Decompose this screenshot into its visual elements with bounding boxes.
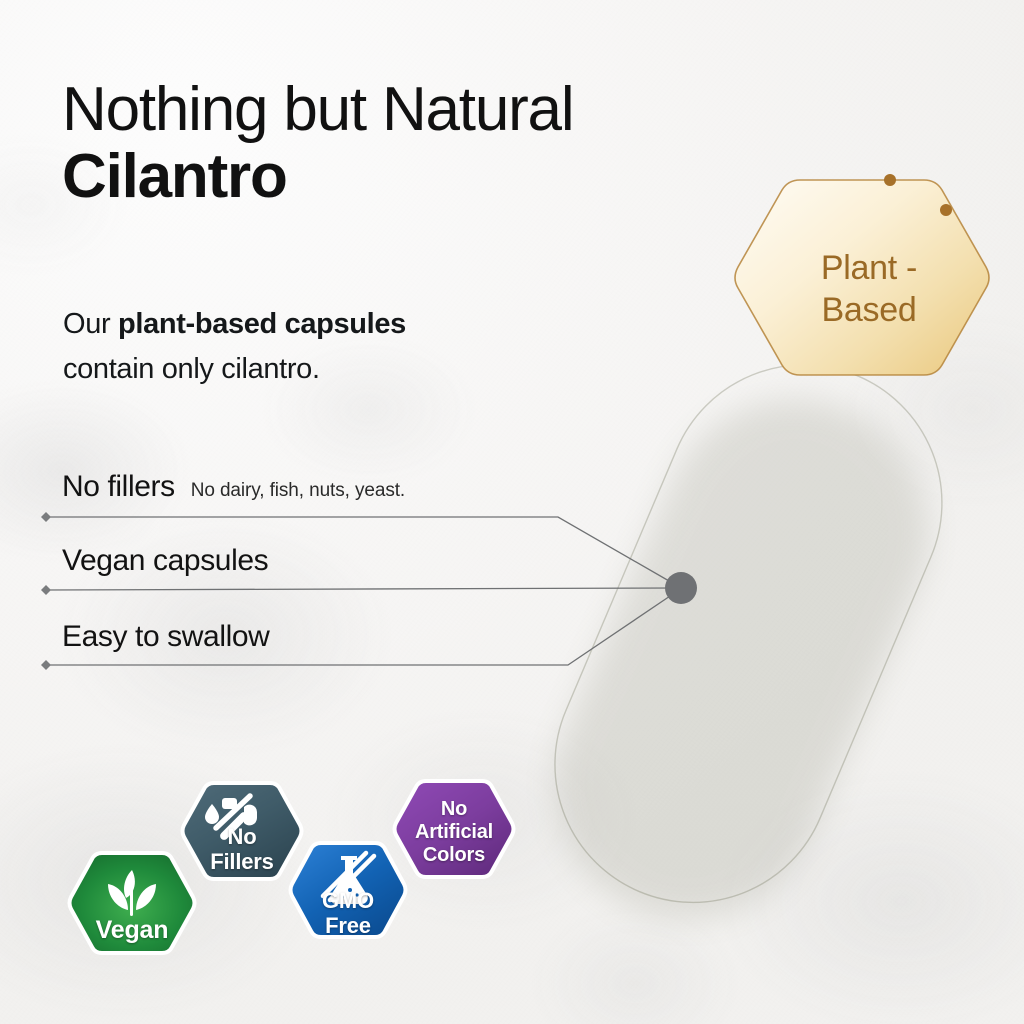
callout-title: No fillers (62, 470, 175, 504)
callout-title: Vegan capsules (62, 544, 268, 578)
callout-subtext: No dairy, fish, nuts, yeast. (191, 480, 405, 502)
callout-no-fillers: No fillersNo dairy, fish, nuts, yeast. (62, 470, 405, 504)
callout-easy-to-swallow: Easy to swallow (62, 620, 269, 654)
callout-vegan-capsules: Vegan capsules (62, 544, 268, 578)
cert-badge-gmo-free: GMO Free (286, 838, 410, 954)
cert-badge-vegan: Vegan (64, 848, 200, 972)
callout-title: Easy to swallow (62, 620, 269, 654)
infographic-canvas: Plant - Based Nothing but Natural Cilant… (0, 0, 1024, 1024)
